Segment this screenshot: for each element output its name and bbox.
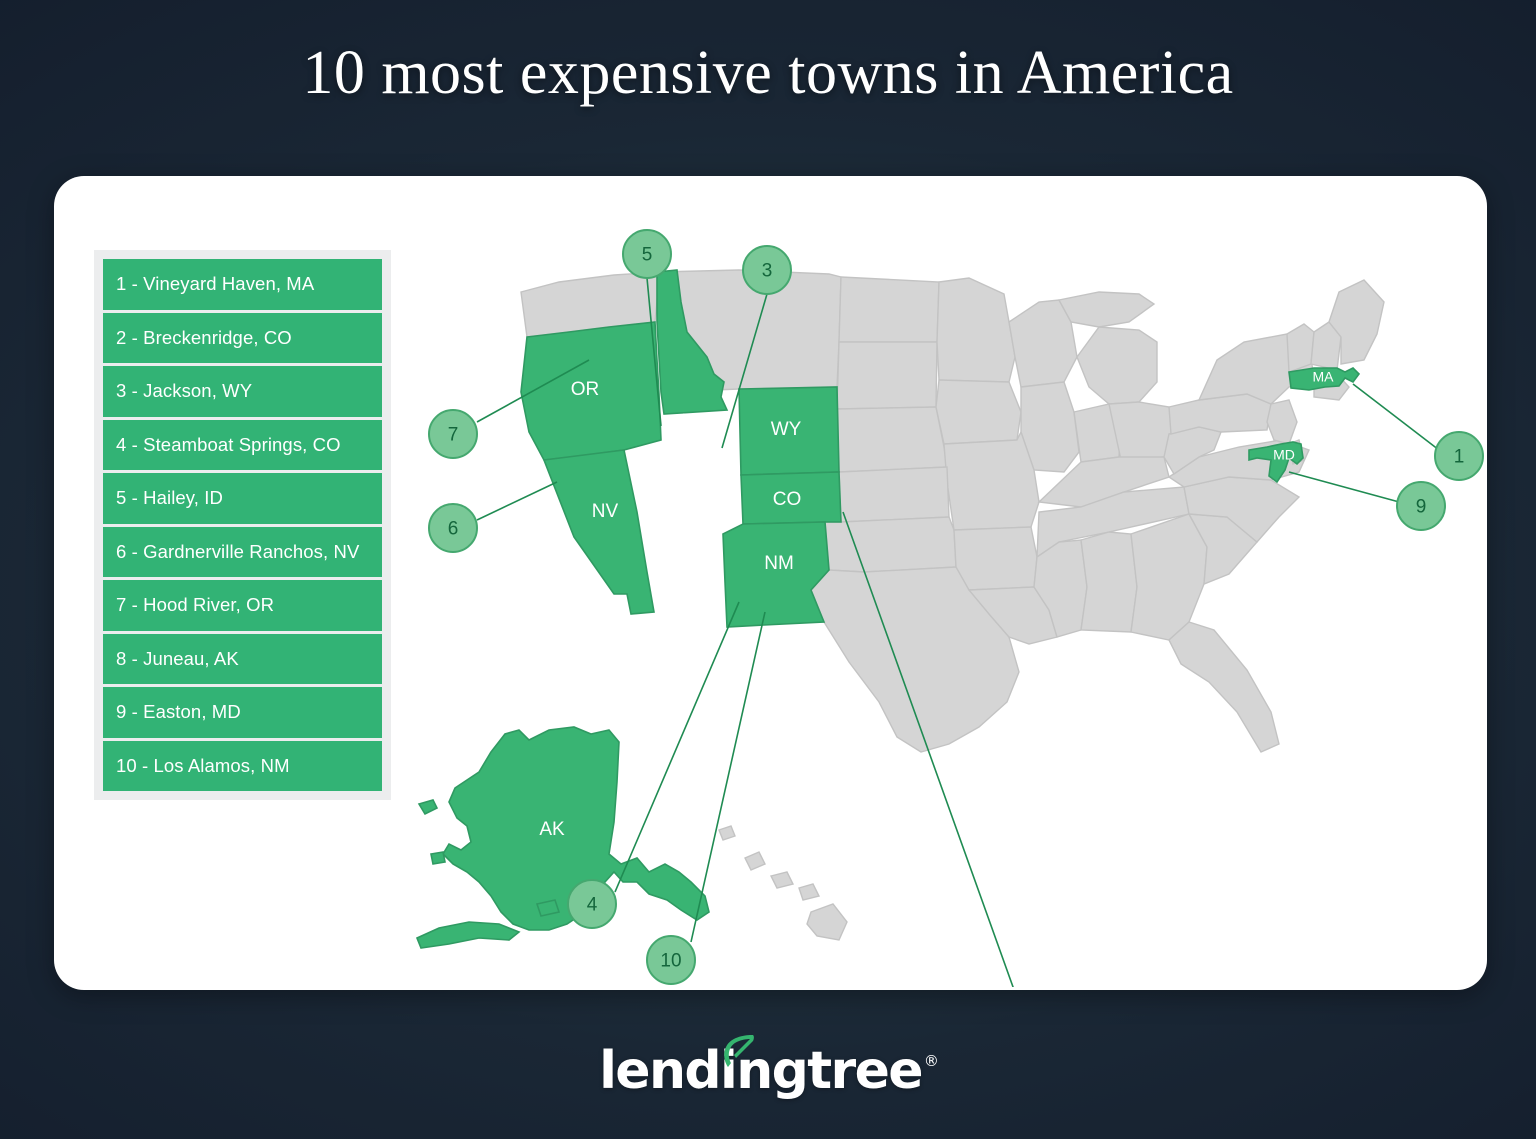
map-marker-10[interactable]: 10 — [647, 936, 695, 984]
state-label-nv: NV — [592, 501, 619, 522]
legend-item-3[interactable]: 3 - Jackson, WY — [103, 366, 382, 417]
legend-item-1[interactable]: 1 - Vineyard Haven, MA — [103, 259, 382, 310]
legend-item-8[interactable]: 8 - Juneau, AK — [103, 634, 382, 685]
state-hi — [719, 826, 847, 940]
registered-mark: ® — [924, 1052, 939, 1070]
state-label-md: MD — [1273, 447, 1295, 463]
map-marker-1[interactable]: 1 — [1435, 432, 1483, 480]
leader-line-1 — [1353, 384, 1439, 450]
map-marker-7[interactable]: 7 — [429, 410, 477, 458]
map-marker-3-label: 3 — [762, 261, 773, 282]
footer: lendingtree® — [0, 1035, 1536, 1107]
map-marker-5-label: 5 — [642, 245, 653, 266]
state-label-co: CO — [773, 489, 802, 510]
legend-item-7[interactable]: 7 - Hood River, OR — [103, 580, 382, 631]
legend-item-5[interactable]: 5 - Hailey, ID — [103, 473, 382, 524]
state-label-nm: NM — [764, 553, 794, 574]
map-marker-6[interactable]: 6 — [429, 504, 477, 552]
map-marker-1-label: 1 — [1454, 447, 1465, 468]
map-marker-9-label: 9 — [1416, 497, 1427, 518]
state-nm — [723, 522, 829, 627]
map-marker-5[interactable]: 5 — [623, 230, 671, 278]
legend-item-2[interactable]: 2 - Breckenridge, CO — [103, 313, 382, 364]
map-marker-6-label: 6 — [448, 519, 459, 540]
state-label-ak: AK — [539, 819, 565, 840]
leader-line-4 — [615, 602, 739, 892]
lendingtree-wordmark: lendingtree — [599, 1035, 922, 1107]
infographic-card: 1 - Vineyard Haven, MA 2 - Breckenridge,… — [54, 176, 1487, 990]
leader-line-6 — [477, 482, 557, 520]
map-marker-9[interactable]: 9 — [1397, 482, 1445, 530]
ranking-legend-panel: 1 - Vineyard Haven, MA 2 - Breckenridge,… — [94, 250, 391, 800]
map-marker-7-label: 7 — [448, 425, 459, 446]
state-nv — [544, 450, 654, 614]
map-marker-10-label: 10 — [660, 951, 681, 972]
leaf-icon — [722, 1033, 756, 1071]
legend-item-9[interactable]: 9 - Easton, MD — [103, 687, 382, 738]
state-label-or: OR — [571, 379, 600, 400]
map-marker-3[interactable]: 3 — [743, 246, 791, 294]
map-marker-4[interactable]: 4 — [568, 880, 616, 928]
legend-item-6[interactable]: 6 - Gardnerville Ranchos, NV — [103, 527, 382, 578]
page-title: 10 most expensive towns in America — [0, 38, 1536, 109]
state-label-id: ID — [682, 411, 701, 432]
state-label-ma: MA — [1313, 369, 1335, 385]
legend-item-4[interactable]: 4 - Steamboat Springs, CO — [103, 420, 382, 471]
leader-line-9 — [1289, 472, 1399, 502]
lendingtree-logo[interactable]: lendingtree® — [599, 1035, 937, 1107]
us-map: OR ID WY NV CO NM MA MD AK — [409, 182, 1484, 987]
leader-line-10 — [691, 612, 765, 942]
state-label-wy: WY — [771, 419, 802, 440]
map-marker-4-label: 4 — [587, 895, 598, 916]
legend-item-10[interactable]: 10 - Los Alamos, NM — [103, 741, 382, 792]
